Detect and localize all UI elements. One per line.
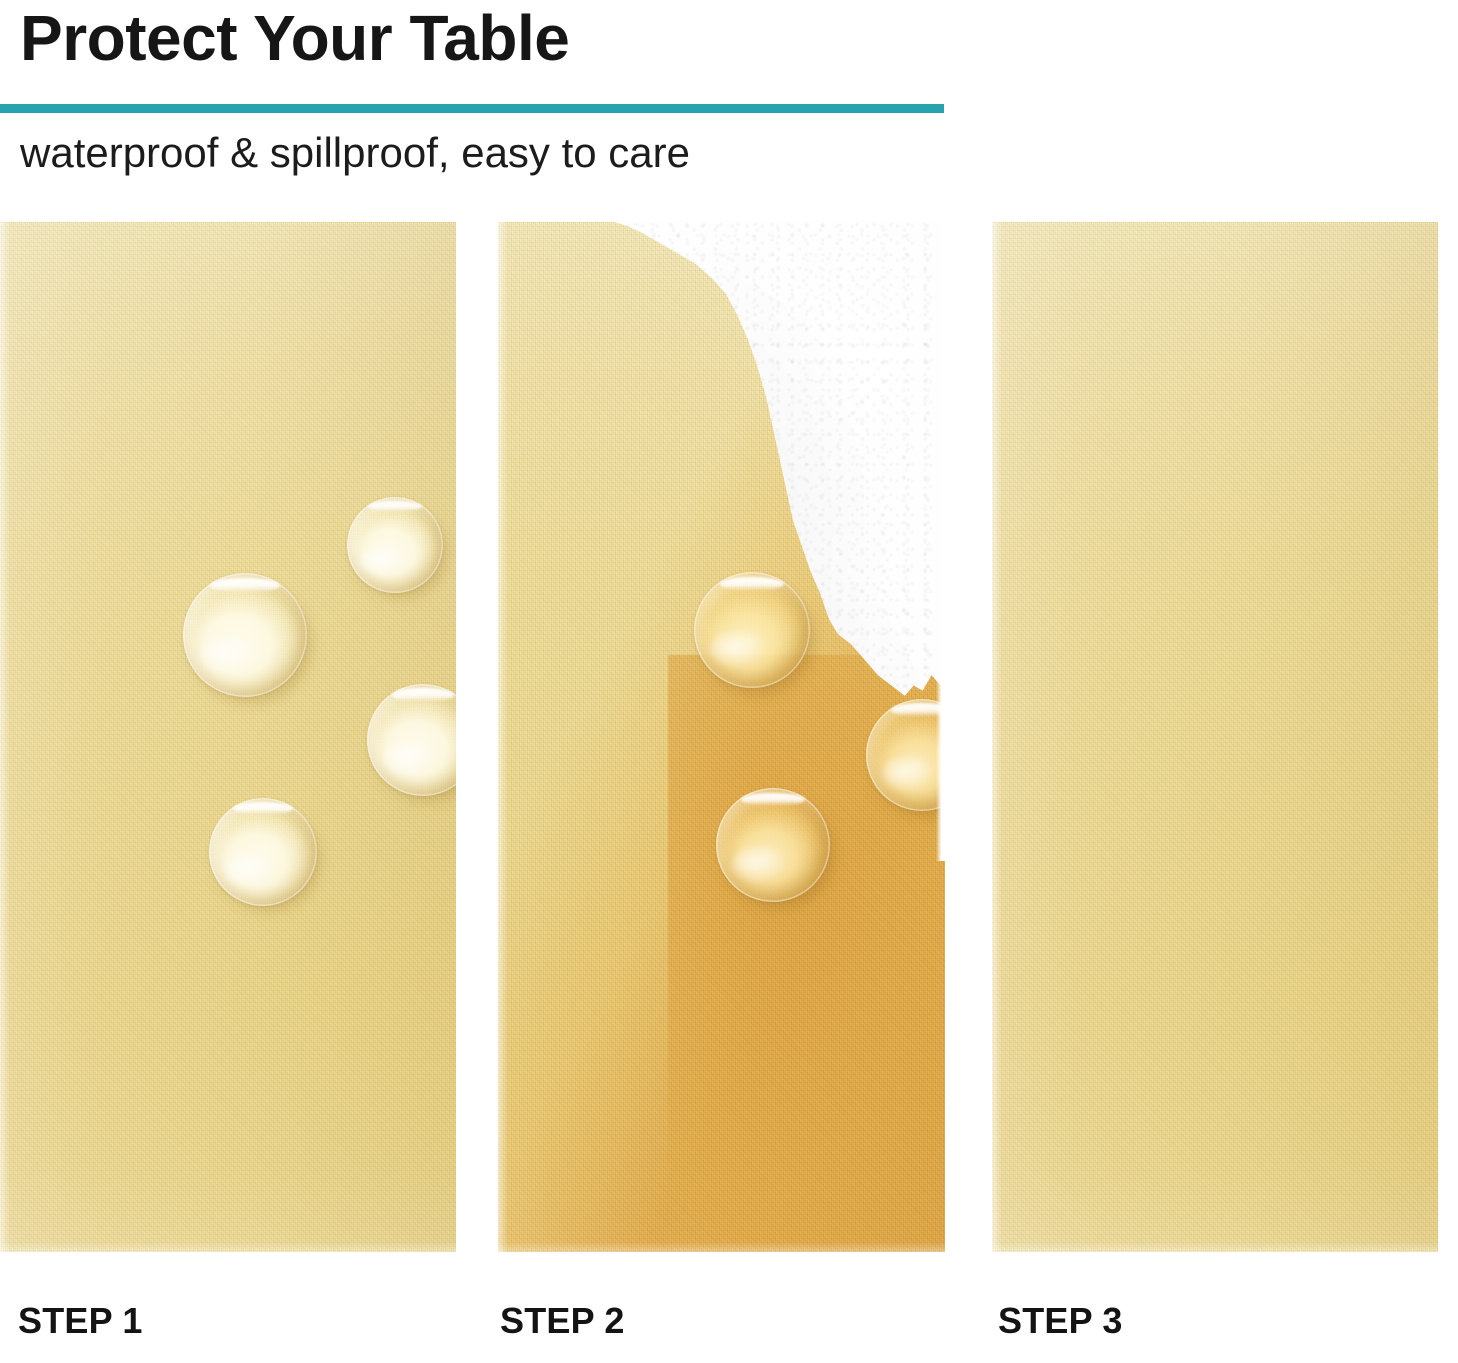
step-label-3: STEP 3 bbox=[998, 1300, 1123, 1342]
panel-step-3 bbox=[992, 222, 1438, 1252]
step-label-1: STEP 1 bbox=[18, 1300, 143, 1342]
panel-step-1 bbox=[0, 222, 456, 1252]
panel-step-2 bbox=[498, 222, 945, 1252]
page-title: Protect Your Table bbox=[20, 2, 569, 76]
panel-right-white-strip bbox=[936, 222, 945, 861]
step-caption-row: STEP 1 STEP 2 STEP 3 bbox=[0, 1300, 1458, 1363]
infographic-root: Protect Your Table waterproof & spillpro… bbox=[0, 0, 1458, 1363]
fabric-weave-diagonal-3 bbox=[992, 222, 1438, 1252]
panel-edge-bottom-3 bbox=[992, 1242, 1438, 1252]
panel-edge-left-3 bbox=[992, 222, 1002, 1252]
panel-edge-left-1 bbox=[0, 222, 10, 1252]
fabric-weave-diagonal-1 bbox=[0, 222, 456, 1252]
page-subtitle: waterproof & spillproof, easy to care bbox=[20, 128, 690, 178]
panel-strip bbox=[0, 222, 1458, 1252]
teal-divider-rule bbox=[0, 104, 944, 113]
panel-edge-left-2 bbox=[498, 222, 508, 1252]
panel-edge-bottom-2 bbox=[498, 1242, 945, 1252]
panel-edge-bottom-1 bbox=[0, 1242, 456, 1252]
step-label-2: STEP 2 bbox=[500, 1300, 625, 1342]
